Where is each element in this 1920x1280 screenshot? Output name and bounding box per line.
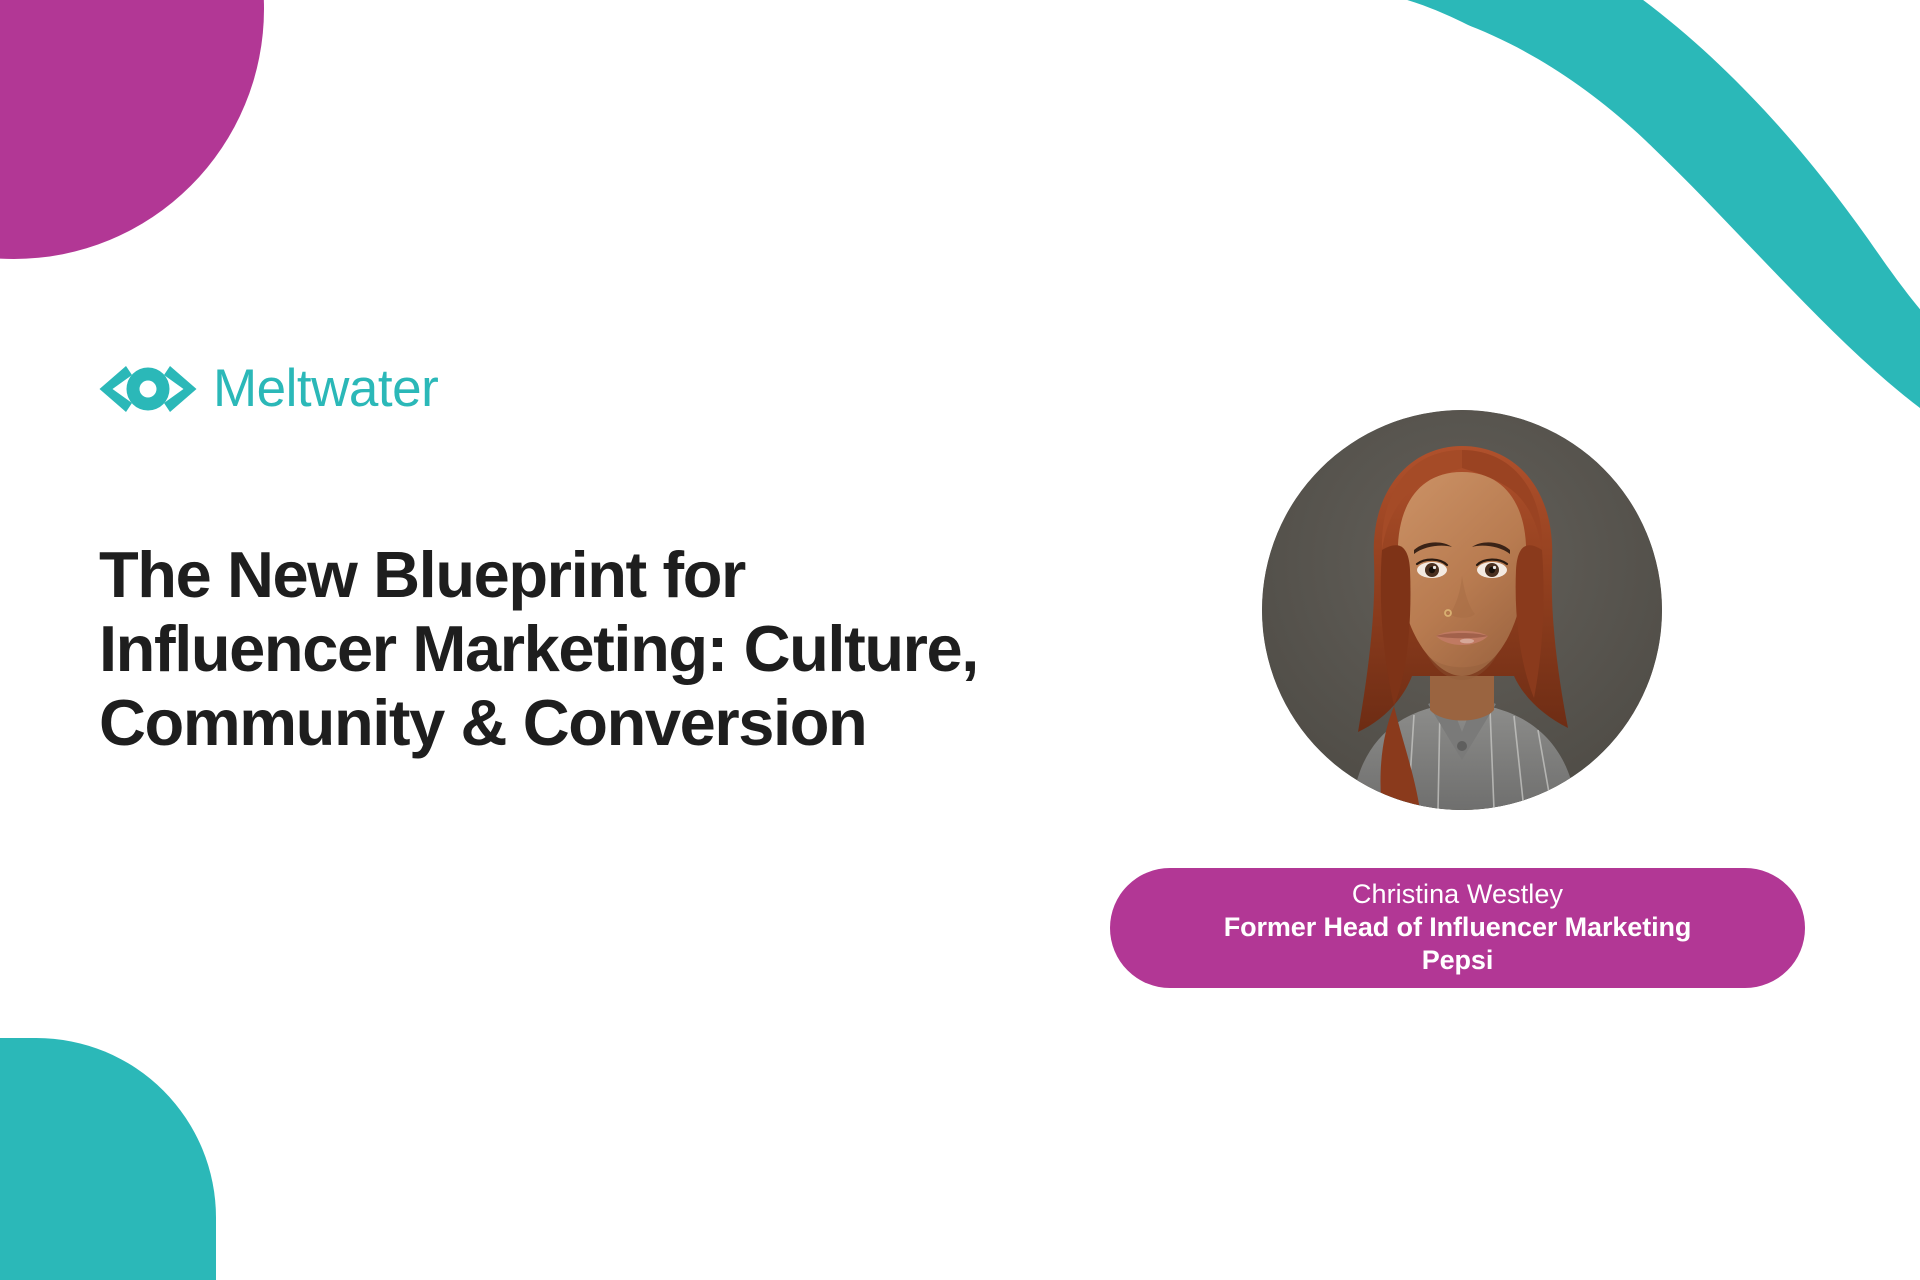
presentation-slide: Meltwater The New Blueprint for Influenc…	[0, 0, 1920, 1280]
speaker-avatar	[1262, 410, 1662, 810]
speaker-name: Christina Westley	[1352, 879, 1563, 911]
page-title: The New Blueprint for Influencer Marketi…	[99, 538, 1159, 760]
speaker-photo	[1262, 410, 1662, 810]
speaker-company: Pepsi	[1422, 944, 1494, 977]
headline-line-2: Influencer Marketing: Culture,	[99, 612, 1159, 686]
speaker-role: Former Head of Influencer Marketing	[1224, 911, 1692, 944]
meltwater-logo: Meltwater	[99, 362, 438, 415]
eye-chevron-icon	[99, 363, 197, 415]
teal-blob-decoration	[0, 1038, 216, 1280]
teal-swoosh-decoration	[1380, 0, 1920, 460]
swoosh-shape	[1380, 0, 1920, 460]
magenta-circle-decoration	[0, 0, 264, 259]
speaker-badge: Christina Westley Former Head of Influen…	[1110, 868, 1805, 988]
headline-line-3: Community & Conversion	[99, 686, 1159, 760]
headline-line-1: The New Blueprint for	[99, 538, 1159, 612]
meltwater-wordmark: Meltwater	[213, 362, 438, 415]
